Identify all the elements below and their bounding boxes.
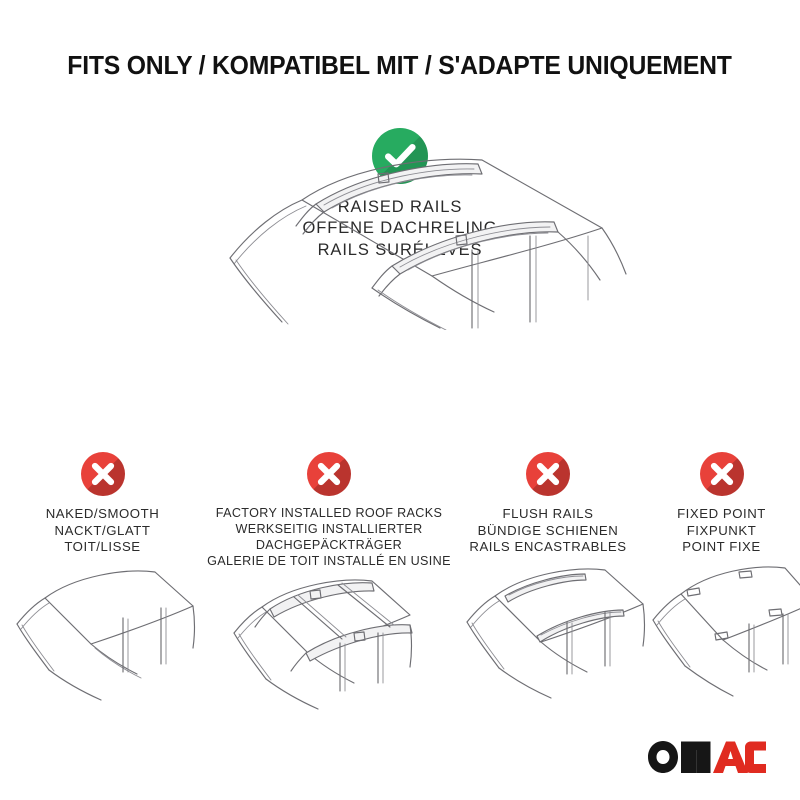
x-mark-glyph	[700, 452, 744, 496]
car-roof-flush-rails-illustration	[453, 562, 643, 712]
label-de: BÜNDIGE SCHIENEN	[453, 523, 643, 540]
label-de-2: DACHGEPÄCKTRÄGER	[205, 538, 453, 554]
x-circle-icon	[700, 452, 744, 496]
raised-rails-drawing	[182, 150, 632, 330]
label-fr: POINT FIXE	[643, 539, 800, 556]
page-title: FITS ONLY / KOMPATIBEL MIT / S'ADAPTE UN…	[0, 52, 800, 81]
label-en: FIXED POINT	[643, 506, 800, 523]
x-mark-glyph	[526, 452, 570, 496]
fixed-point-drawing	[643, 562, 800, 712]
labels-naked-smooth: NAKED/SMOOTH NACKT/GLATT TOIT/LISSE	[0, 506, 205, 556]
x-circle-icon	[307, 452, 351, 496]
label-en: NAKED/SMOOTH	[0, 506, 205, 523]
page-title-text: FITS ONLY / KOMPATIBEL MIT / S'ADAPTE UN…	[68, 52, 732, 81]
label-en: FLUSH RAILS	[453, 506, 643, 523]
incompatible-item-flush-rails: FLUSH RAILS BÜNDIGE SCHIENEN RAILS ENCAS…	[453, 452, 643, 712]
label-fr: TOIT/LISSE	[0, 539, 205, 556]
car-roof-factory-racks-illustration	[205, 575, 453, 725]
incompatible-item-fixed-point: FIXED POINT FIXPUNKT POINT FIXE	[643, 452, 800, 712]
incompatible-item-factory-racks: FACTORY INSTALLED ROOF RACKS WERKSEITIG …	[205, 452, 453, 725]
label-fr: RAILS ENCASTRABLES	[453, 539, 643, 556]
label-de-1: WERKSEITIG INSTALLIERTER	[205, 522, 453, 538]
naked-roof-drawing	[3, 562, 203, 712]
car-roof-raised-rails-illustration	[182, 150, 632, 330]
label-de: NACKT/GLATT	[0, 523, 205, 540]
x-mark-glyph	[81, 452, 125, 496]
x-circle-icon	[526, 452, 570, 496]
label-fr: GALERIE DE TOIT INSTALLÉ EN USINE	[205, 554, 453, 570]
labels-flush-rails: FLUSH RAILS BÜNDIGE SCHIENEN RAILS ENCAS…	[453, 506, 643, 556]
label-de: FIXPUNKT	[643, 523, 800, 540]
labels-factory-racks: FACTORY INSTALLED ROOF RACKS WERKSEITIG …	[205, 506, 453, 569]
car-roof-naked-illustration	[0, 562, 205, 712]
omac-logo	[648, 740, 766, 774]
label-en: FACTORY INSTALLED ROOF RACKS	[205, 506, 453, 522]
car-roof-fixed-point-illustration	[643, 562, 800, 712]
labels-fixed-point: FIXED POINT FIXPUNKT POINT FIXE	[643, 506, 800, 556]
flush-rails-drawing	[453, 562, 653, 712]
factory-racks-drawing	[214, 575, 444, 725]
x-mark-glyph	[307, 452, 351, 496]
incompatible-item-naked-smooth: NAKED/SMOOTH NACKT/GLATT TOIT/LISSE	[0, 452, 205, 712]
x-circle-icon	[81, 452, 125, 496]
incompatible-section: NAKED/SMOOTH NACKT/GLATT TOIT/LISSE	[0, 452, 800, 725]
omac-logo-mark	[648, 740, 766, 774]
